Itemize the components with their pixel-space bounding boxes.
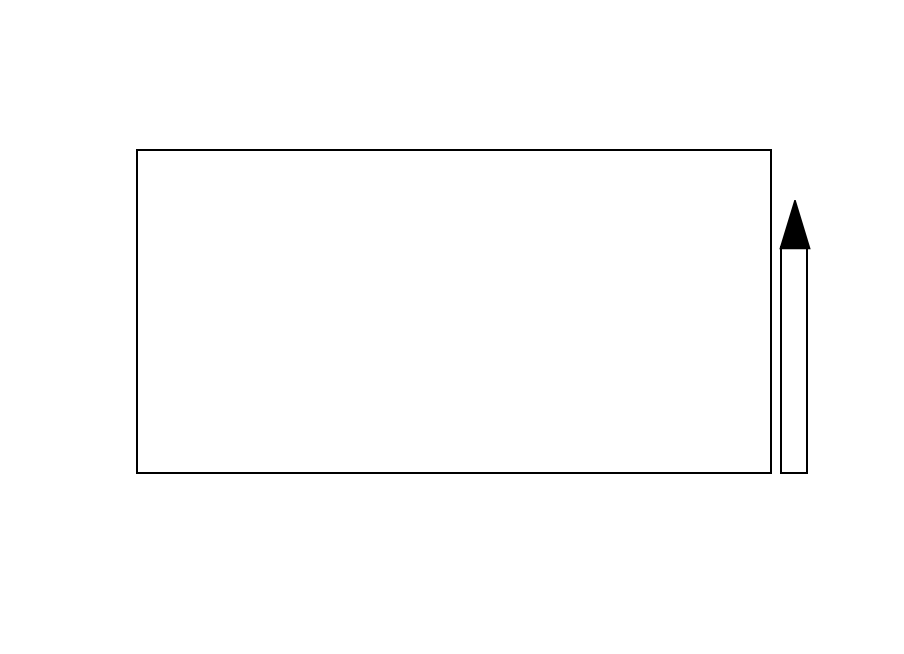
- plot-area: [136, 149, 772, 474]
- colorbar-over-arrow-icon: [779, 200, 811, 250]
- colorbar: [779, 200, 899, 480]
- density-field-canvas: [138, 151, 770, 472]
- colorbar-gradient: [780, 246, 808, 474]
- x-axis-ticks: [136, 474, 772, 514]
